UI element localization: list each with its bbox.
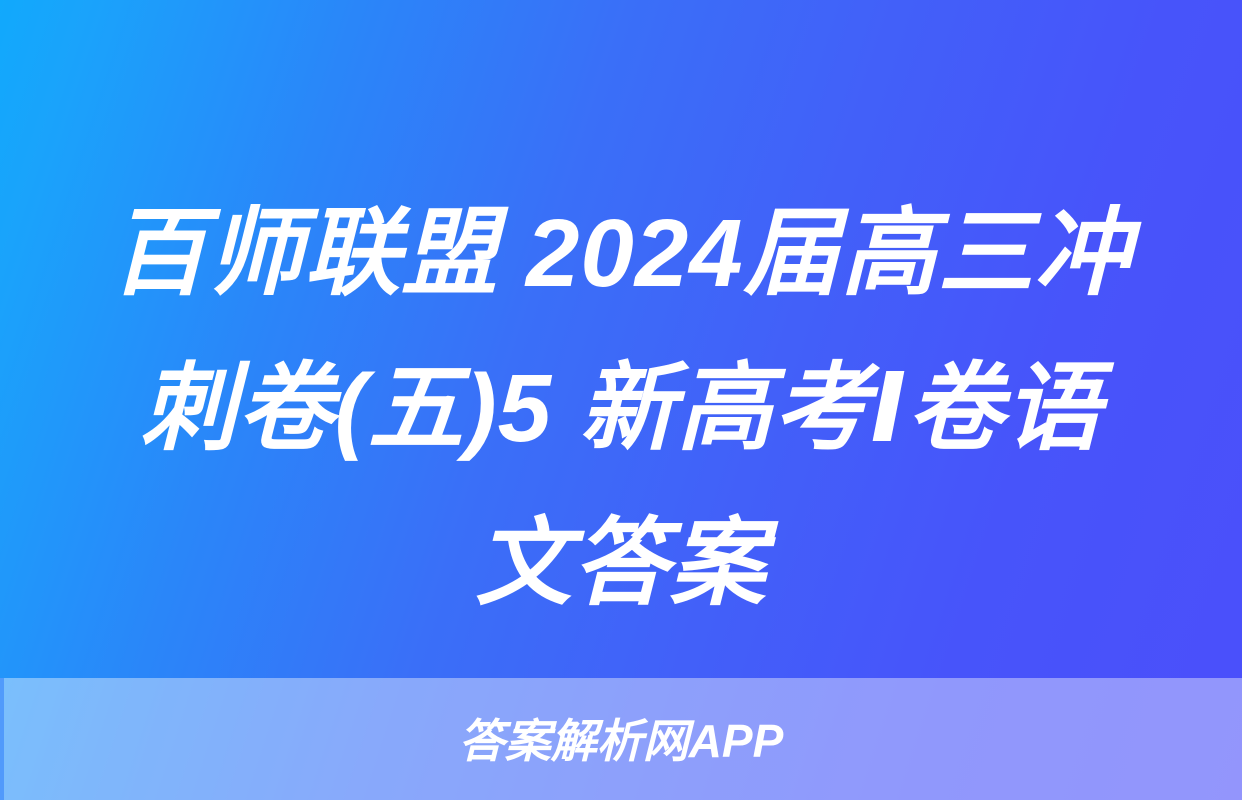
title-line-1: 百师联盟 2024届高三冲 xyxy=(62,176,1180,331)
poster-card: 百师联盟 2024届高三冲 刺卷(五)5 新高考Ⅰ卷语 文答案 答案解析网APP xyxy=(0,0,1242,800)
watermark-band: 答案解析网APP xyxy=(0,678,1242,800)
title-line-3: 文答案 xyxy=(62,486,1180,641)
watermark-app-label: 答案解析网APP xyxy=(459,718,784,764)
page-title: 百师联盟 2024届高三冲 刺卷(五)5 新高考Ⅰ卷语 文答案 xyxy=(0,176,1242,641)
title-line-2: 刺卷(五)5 新高考Ⅰ卷语 xyxy=(62,331,1180,486)
